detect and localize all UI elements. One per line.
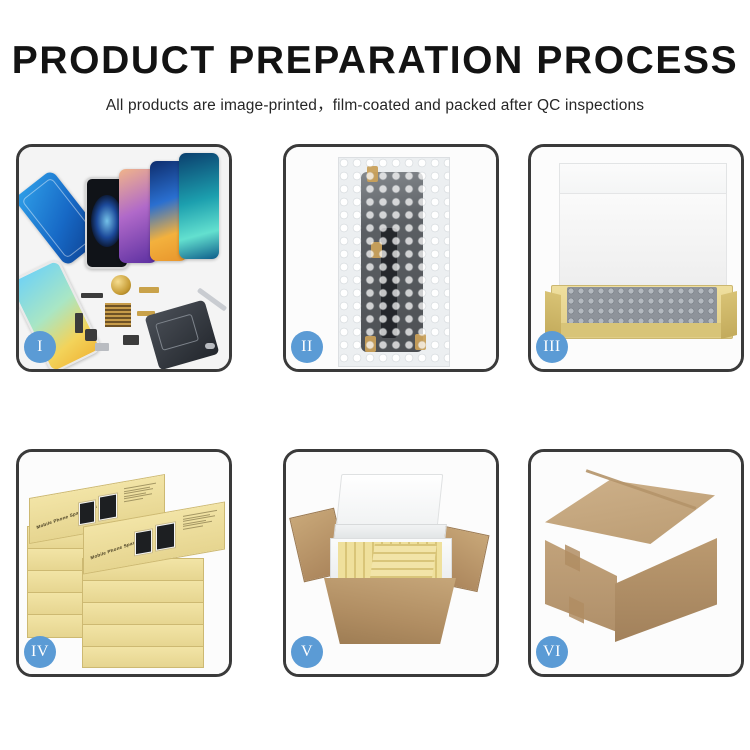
- screen-flex-cable-image: [381, 228, 397, 338]
- box-product-photo: [98, 492, 118, 522]
- carton-body-image: [324, 578, 456, 644]
- box-product-photo: [134, 528, 153, 556]
- stacked-box-edge: [82, 624, 204, 648]
- tape-bottom-left-image: [365, 336, 376, 352]
- box-product-photo: [155, 521, 176, 552]
- page-subtitle: All products are image-printed，film-coat…: [0, 80, 750, 115]
- step-badge-6: VI: [536, 636, 568, 668]
- connector-part-image: [81, 293, 103, 298]
- step-badge-3: III: [536, 331, 568, 363]
- screw-image: [205, 343, 215, 349]
- process-step-panel-1: I: [16, 144, 232, 372]
- teal-gradient-phone-image: [179, 153, 219, 259]
- step-badge-1: I: [24, 331, 56, 363]
- stacked-box-edge: [82, 646, 204, 668]
- gold-component-image: [111, 275, 131, 295]
- metal-bracket-image: [95, 343, 109, 351]
- antenna-part-image: [75, 313, 83, 333]
- bubble-wrap-bag-image: [338, 157, 450, 367]
- box-front-edge-image: [551, 323, 731, 337]
- tape-bottom-right-image: [415, 334, 426, 350]
- gold-flex-cable-image: [139, 287, 159, 293]
- process-step-panel-5: V: [283, 449, 499, 677]
- bubble-wrapped-items-image: [567, 287, 717, 325]
- header: PRODUCT PREPARATION PROCESS All products…: [0, 0, 750, 115]
- box-stack-image: Mobile Phone Spare Parts Mobile Phone Sp…: [27, 470, 227, 662]
- process-steps-grid: I II: [16, 144, 735, 677]
- process-step-panel-3: III: [528, 144, 744, 372]
- box-product-photo: [78, 499, 96, 526]
- page-title: PRODUCT PREPARATION PROCESS: [0, 0, 750, 80]
- stacked-box-edge: [82, 602, 204, 626]
- process-step-panel-6: VI: [528, 449, 744, 677]
- tape-top-image: [367, 166, 378, 182]
- chip-array-image: [105, 303, 131, 327]
- step-badge-4: IV: [24, 636, 56, 668]
- process-step-panel-2: II: [283, 144, 499, 372]
- product-preparation-process-page: PRODUCT PREPARATION PROCESS All products…: [0, 0, 750, 750]
- box-right-flap-image: [721, 291, 737, 339]
- white-foam-sheet-image: [559, 193, 727, 297]
- carton-right-face-image: [615, 538, 717, 642]
- carton-top-face-image: [545, 480, 715, 544]
- camera-module-image: [123, 335, 139, 345]
- stacked-box-edge: [82, 580, 204, 604]
- process-step-panel-4: Mobile Phone Spare Parts Mobile Phone Sp…: [16, 449, 232, 677]
- phone-backplate-image: [144, 300, 219, 371]
- tape-middle-image: [371, 242, 382, 258]
- step-badge-5: V: [291, 636, 323, 668]
- small-part-image: [85, 329, 97, 341]
- step-badge-2: II: [291, 331, 323, 363]
